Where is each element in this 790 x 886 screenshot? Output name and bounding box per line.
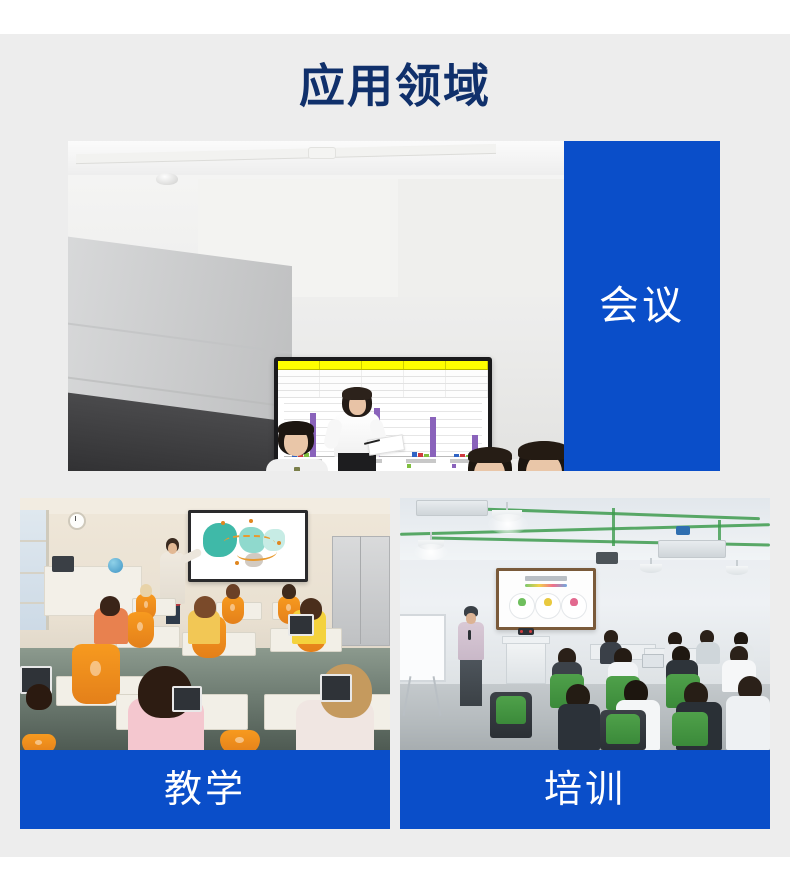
window-mullion: [20, 540, 46, 542]
tablet-device: [288, 614, 314, 636]
wall-clock-icon: [68, 512, 86, 530]
slide-circle-icon: [570, 598, 578, 606]
training-chair-back: [496, 696, 526, 724]
training-chair-back: [672, 712, 708, 746]
presenter-skirt: [338, 453, 376, 471]
card-training-caption-bar: 培训: [400, 750, 770, 829]
map-pin-icon: [249, 519, 253, 523]
map-pin-icon: [235, 561, 239, 565]
attendee-torso: [558, 704, 600, 750]
chart-bar: [430, 417, 436, 457]
window-mullion: [20, 602, 46, 604]
spreadsheet-row: [278, 384, 488, 391]
teacher-face: [168, 543, 177, 554]
card-training[interactable]: 培训: [400, 498, 770, 829]
lamp-glow: [414, 544, 448, 560]
card-teaching-caption-bar: 教学: [20, 750, 390, 829]
attendee-torso: [726, 696, 770, 750]
window-mullion: [20, 572, 46, 574]
tablet-device: [320, 674, 352, 702]
student-head: [100, 596, 120, 616]
map-pin-icon: [221, 521, 225, 525]
presentation-screen: [499, 571, 593, 627]
teacher-desk: [44, 566, 142, 616]
caption-meeting: 会议: [599, 283, 685, 329]
chart-bar: [418, 453, 423, 457]
student-head: [194, 596, 216, 618]
tablet-device: [172, 686, 202, 712]
presenter-legs: [460, 658, 482, 706]
card-meeting-caption-panel: 会议: [564, 141, 720, 471]
globe-icon: [108, 558, 123, 573]
teaching-photo: [20, 498, 390, 750]
presenter-body: [458, 622, 484, 660]
student-head: [282, 584, 296, 599]
lectern-top: [502, 636, 550, 644]
projector-device: [596, 552, 618, 564]
page-root: 应用领域: [0, 0, 790, 886]
attendee-fringe: [278, 421, 314, 435]
meeting-photo: [68, 141, 564, 471]
presenter-face: [466, 613, 476, 624]
attendee-tie: [294, 467, 300, 471]
student-chair: [126, 612, 154, 648]
attendee-fringe: [468, 447, 512, 463]
student-head: [140, 584, 152, 597]
cabinet-door-seam: [360, 536, 361, 644]
ceiling-pipe-vertical: [612, 508, 615, 546]
chart-bar: [412, 452, 417, 457]
camera-indicator: [529, 630, 532, 633]
chart-bar: [424, 454, 429, 457]
meeting-wall-panel-right: [398, 179, 564, 297]
slide-accent-bar: [525, 584, 567, 587]
camera-indicator: [520, 630, 523, 633]
slide-title-placeholder: [525, 576, 567, 581]
page-title: 应用领域: [0, 58, 790, 114]
lamp-glow: [488, 514, 528, 534]
caption-teaching: 教学: [164, 768, 246, 812]
air-conditioner-unit: [658, 540, 726, 558]
slide-circle: [561, 593, 587, 619]
meeting-ceiling-vent: [308, 147, 336, 159]
spreadsheet-row: [278, 370, 488, 377]
ceiling-lamp: [640, 564, 662, 573]
desktop-monitor: [52, 556, 74, 572]
training-photo: [400, 498, 770, 750]
attendee-torso: [696, 642, 720, 664]
laptop-device: [642, 654, 664, 668]
chart-bar: [460, 454, 465, 457]
whiteboard-screen: [278, 361, 488, 471]
student-chair: [22, 734, 56, 750]
air-conditioner-unit: [416, 500, 488, 516]
slide-circle: [535, 593, 561, 619]
student-chair: [222, 596, 244, 624]
card-teaching[interactable]: 教学: [20, 498, 390, 829]
camera-device: [518, 628, 534, 635]
slide-circle-icon: [518, 598, 526, 606]
caption-training: 培训: [544, 768, 626, 812]
card-meeting[interactable]: 会议: [68, 141, 720, 471]
training-chair-back: [606, 714, 640, 744]
lectern-podium: [506, 640, 546, 684]
map-route-path: [237, 545, 277, 561]
student-head: [26, 684, 52, 710]
spreadsheet-header-row: [278, 361, 488, 370]
student-chair: [220, 730, 260, 750]
map-pin-icon: [277, 541, 281, 545]
wall-mounted-device: [676, 526, 690, 535]
presenter-fringe: [342, 387, 372, 400]
slide-circle: [509, 593, 535, 619]
ceiling-lamp: [726, 566, 748, 575]
flipchart-board: [400, 614, 446, 682]
attendee-fringe: [518, 441, 564, 460]
student-head: [226, 584, 240, 599]
chart-bar: [454, 454, 459, 457]
slide-circle-icon: [544, 598, 552, 606]
smoke-detector-icon: [156, 173, 178, 185]
spreadsheet-row: [278, 391, 488, 398]
microphone-icon: [468, 630, 471, 640]
whiteboard-screen: [191, 513, 305, 579]
student-chair: [72, 644, 120, 704]
spreadsheet-row: [278, 377, 488, 384]
